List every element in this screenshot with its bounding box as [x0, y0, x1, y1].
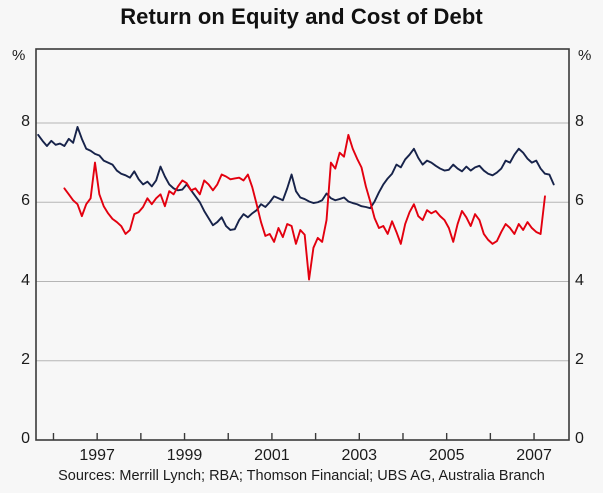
source-note: Sources: Merrill Lynch; RBA; Thomson Fin…: [0, 468, 603, 484]
y-tick-right-0: 0: [575, 430, 597, 448]
y-tick-right-2: 2: [575, 351, 597, 369]
y-tick-right-6: 6: [575, 192, 597, 210]
y-tick-left-6: 6: [8, 192, 30, 210]
plot-canvas: [0, 0, 603, 493]
y-tick-left-4: 4: [8, 272, 30, 290]
x-tick-2003: 2003: [329, 447, 389, 465]
y-tick-right-8: 8: [575, 113, 597, 131]
x-tick-2005: 2005: [417, 447, 477, 465]
y-tick-right-4: 4: [575, 272, 597, 290]
x-tick-2001: 2001: [242, 447, 302, 465]
chart-root: Return on Equity and Cost of Debt % % Fo…: [0, 0, 603, 493]
y-tick-left-8: 8: [8, 113, 30, 131]
y-tick-left-2: 2: [8, 351, 30, 369]
x-tick-1999: 1999: [155, 447, 215, 465]
x-tick-2007: 2007: [504, 447, 564, 465]
y-tick-left-0: 0: [8, 430, 30, 448]
x-tick-1997: 1997: [67, 447, 127, 465]
